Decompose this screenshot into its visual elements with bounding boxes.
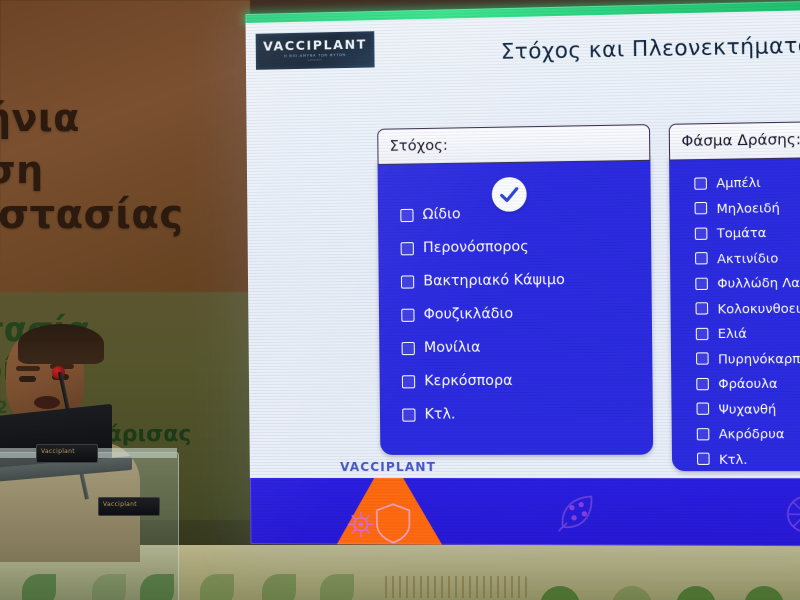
list-item[interactable]: Ακρόδρυα xyxy=(697,426,800,442)
speaker-mouth xyxy=(34,396,60,409)
list-item-label: Ωίδιο xyxy=(423,206,461,223)
speaker-hair xyxy=(18,324,104,364)
logo-subtagline: Laminarin xyxy=(308,60,323,63)
banner-line-3: οστασίας xyxy=(0,192,184,238)
checkbox-icon[interactable] xyxy=(401,275,414,288)
checkbox-icon[interactable] xyxy=(402,341,415,354)
list-item-label: Κερκόσπορα xyxy=(424,373,512,390)
nameplate-upper: Vacciplant xyxy=(36,444,98,463)
list-item-label: Κολοκυνθοειδή xyxy=(717,300,800,316)
list-item-label: Φυλλώδη Λαχανικά xyxy=(717,274,800,291)
list-item[interactable]: Κολοκυνθοειδή xyxy=(695,299,800,316)
vacciplant-logo: VACCIPLANT Η ΒΙΟ-ΑΜΥΝΑ ΤΩΝ ΦΥΤΩΝ Laminar… xyxy=(256,31,375,70)
checkbox-icon[interactable] xyxy=(695,252,708,264)
list-item[interactable]: Ψυχανθή xyxy=(696,400,800,416)
checkbox-icon[interactable] xyxy=(696,377,709,389)
list-item[interactable]: Ελιά xyxy=(696,324,800,341)
list-item[interactable]: Κερκόσπορα xyxy=(402,372,653,389)
checkbox-icon[interactable] xyxy=(697,453,710,465)
list-item[interactable]: Κτλ. xyxy=(697,451,800,467)
list-item[interactable]: Φυλλώδη Λαχανικά xyxy=(695,273,800,291)
panel-target: Στόχος: Ωίδιο xyxy=(377,124,653,455)
list-item[interactable]: Τομάτα xyxy=(695,223,800,241)
leaf-icon xyxy=(554,490,600,539)
list-item-label: Φουζικλάδιο xyxy=(424,306,514,323)
triangle-icon-group xyxy=(346,500,432,545)
checkbox-icon[interactable] xyxy=(400,208,413,221)
checkbox-icon[interactable] xyxy=(696,327,709,339)
slide-content-area: VACCIPLANT Η ΒΙΟ-ΑΜΥΝΑ ΤΩΝ ΦΥΤΩΝ Laminar… xyxy=(246,10,800,478)
list-item-label: Ακτινίδιο xyxy=(717,250,778,266)
podium xyxy=(0,452,179,600)
panel-target-body: Ωίδιο Περονόσπορος Βακτηριακό Κάψιμο xyxy=(378,157,654,455)
list-item[interactable]: Περονόσπορος xyxy=(401,237,652,256)
logo-tagline: Η ΒΙΟ-ΑΜΥΝΑ ΤΩΝ ΦΥΤΩΝ xyxy=(284,54,346,59)
banner-line-1: ήνια xyxy=(0,96,80,140)
list-item[interactable]: Κτλ. xyxy=(402,406,653,423)
screenshot-stage: ήνια ση οστασίας τασία ρίση 2 ου Λάρισας xyxy=(0,0,800,600)
nameplate-lower-text: Vacciplant xyxy=(103,501,137,508)
list-item-label: Φράουλα xyxy=(718,376,777,392)
checkbox-icon[interactable] xyxy=(695,227,708,239)
list-item[interactable]: Φουζικλάδιο xyxy=(401,305,652,323)
shield-icon xyxy=(346,500,432,545)
checkbox-icon[interactable] xyxy=(696,352,709,364)
list-item[interactable]: Μονίλια xyxy=(402,338,653,356)
panel-spectrum-list: Αμπέλι Μηλοειδή Τομάτα Ακτινίδιο xyxy=(669,152,800,466)
panel-spectrum-header: Φάσμα Δράσης: xyxy=(669,119,800,161)
checkbox-icon[interactable] xyxy=(696,403,709,415)
nameplate-upper-text: Vacciplant xyxy=(41,448,75,455)
checkbox-icon[interactable] xyxy=(402,408,415,421)
list-item-label: Ελιά xyxy=(718,325,747,341)
checkbox-icon[interactable] xyxy=(695,277,708,289)
checkbox-icon[interactable] xyxy=(696,302,709,314)
banner-line-2: ση xyxy=(0,148,44,192)
panel-spectrum-header-label: Φάσμα Δράσης: xyxy=(681,132,800,150)
logo-wordmark: VACCIPLANT xyxy=(263,38,367,53)
checkbox-icon[interactable] xyxy=(697,428,710,440)
nameplate-lower: Vacciplant xyxy=(98,497,160,516)
list-item-label: Κτλ. xyxy=(719,451,748,466)
list-item-label: Βακτηριακό Κάψιμο xyxy=(423,272,565,290)
panel-spectrum: Φάσμα Δράσης: Αμπέλι Μηλοειδή xyxy=(669,119,800,471)
list-item[interactable]: Πυρηνόκαρπα xyxy=(696,349,800,366)
list-item-label: Ψυχανθή xyxy=(718,401,776,417)
list-item-label: Μηλοειδή xyxy=(716,199,779,215)
footer-brand-label: VACCIPLANT xyxy=(340,460,436,474)
list-item-label: Πυρηνόκαρπα xyxy=(718,350,800,366)
list-item-label: Τομάτα xyxy=(717,225,767,241)
list-item-label: Περονόσπορος xyxy=(423,239,529,256)
list-item-label: Μονίλια xyxy=(424,340,481,357)
list-item[interactable]: Αμπέλι xyxy=(694,172,800,191)
list-item-label: Αμπέλι xyxy=(716,175,761,191)
checkbox-icon[interactable] xyxy=(401,308,414,321)
slide-footer-band xyxy=(250,478,800,546)
list-item-label: Ακρόδρυα xyxy=(719,426,785,441)
checkbox-icon[interactable] xyxy=(694,177,707,189)
checkbox-icon[interactable] xyxy=(695,202,708,214)
panel-spectrum-body: Αμπέλι Μηλοειδή Τομάτα Ακτινίδιο xyxy=(669,152,800,471)
panel-target-header: Στόχος: xyxy=(377,124,650,165)
projected-slide: VACCIPLANT Η ΒΙΟ-ΑΜΥΝΑ ΤΩΝ ΦΥΤΩΝ Laminar… xyxy=(245,1,800,546)
list-item-label: Κτλ. xyxy=(425,406,456,422)
checkbox-icon[interactable] xyxy=(402,375,415,388)
list-item[interactable]: Ωίδιο xyxy=(400,204,651,223)
list-item[interactable]: Μηλοειδή xyxy=(695,197,800,216)
list-item[interactable]: Ακτινίδιο xyxy=(695,248,800,266)
list-item[interactable]: Βακτηριακό Κάψιμο xyxy=(401,271,652,290)
checkbox-icon[interactable] xyxy=(401,242,414,255)
slide-title: Στόχος και Πλεονεκτήματα xyxy=(501,33,800,64)
panel-target-header-label: Στόχος: xyxy=(389,138,447,155)
citrus-wheel-icon xyxy=(783,493,800,540)
list-item[interactable]: Φράουλα xyxy=(696,375,800,392)
